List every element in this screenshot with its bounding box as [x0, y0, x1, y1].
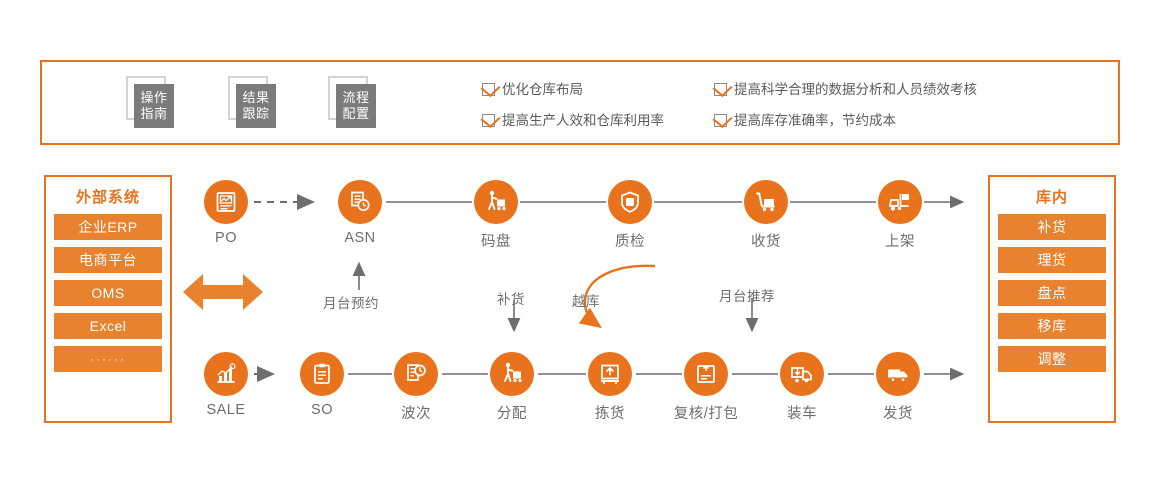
flow-node-label: 复核/打包 — [674, 402, 739, 423]
flow-node-pack[interactable]: 复核/打包 — [684, 352, 728, 396]
external-system-item-erp[interactable]: 企业ERP — [54, 214, 162, 240]
result-tracking-card[interactable]: 结果 跟踪 — [228, 76, 276, 128]
flow-node-ship[interactable]: 发货 — [876, 352, 920, 396]
checkbox-checked-icon[interactable] — [482, 114, 495, 127]
external-system-item-excel[interactable]: Excel — [54, 313, 162, 339]
shield-check-icon — [608, 180, 652, 224]
card-front-sheet: 流程 配置 — [336, 84, 376, 128]
external-system-item-more[interactable]: ······ — [54, 346, 162, 372]
flow-node-loading[interactable]: 装车 — [780, 352, 824, 396]
external-systems-panel: 外部系统 企业ERP 电商平台 OMS Excel ······ — [44, 175, 172, 423]
flow-node-sale[interactable]: SALE — [204, 352, 248, 396]
flow-node-label: SALE — [206, 402, 245, 418]
top-summary-panel: 操作 指南 结果 跟踪 流程 配置 优化仓库布局 提高科学合理的数据分析和人员绩… — [40, 60, 1120, 145]
checklist-label: 提高库存准确率，节约成本 — [734, 113, 896, 128]
in-warehouse-item-replenish[interactable]: 补货 — [998, 214, 1106, 240]
card-line-1: 流程 — [342, 90, 369, 106]
dock-recommendation-annotation: 月台推荐 — [719, 285, 775, 305]
flow-node-allocate[interactable]: 分配 — [490, 352, 534, 396]
flow-node-label: 波次 — [401, 402, 431, 423]
checkbox-checked-icon[interactable] — [714, 114, 727, 127]
pallet-up-icon — [588, 352, 632, 396]
flow-node-label: 质检 — [615, 230, 645, 251]
checklist-item[interactable]: 提高科学合理的数据分析和人员绩效考核 — [714, 82, 977, 97]
external-system-item-ecommerce[interactable]: 电商平台 — [54, 247, 162, 273]
card-front-sheet: 结果 跟踪 — [236, 84, 276, 128]
forklift-icon — [878, 180, 922, 224]
in-warehouse-item-transfer[interactable]: 移库 — [998, 313, 1106, 339]
in-warehouse-item-adjust[interactable]: 调整 — [998, 346, 1106, 372]
hand-truck-icon — [744, 180, 788, 224]
cross-dock-annotation: 越库 — [572, 290, 600, 310]
flow-node-label: 分配 — [497, 402, 527, 423]
card-line-2: 跟踪 — [242, 106, 269, 122]
bidirectional-exchange-arrow — [183, 274, 263, 310]
checklist-item[interactable]: 提高库存准确率，节约成本 — [714, 113, 896, 128]
checklist-label: 提高科学合理的数据分析和人员绩效考核 — [734, 82, 977, 97]
checklist-label: 优化仓库布局 — [502, 82, 583, 97]
flow-node-label: 上架 — [885, 230, 915, 251]
flow-node-label: 拣货 — [595, 402, 625, 423]
chart-document-icon — [204, 180, 248, 224]
external-systems-title: 外部系统 — [46, 177, 170, 214]
flow-node-label: 装车 — [787, 402, 817, 423]
report-clock-icon — [394, 352, 438, 396]
card-line-2: 指南 — [140, 106, 167, 122]
flow-node-palletize[interactable]: 码盘 — [474, 180, 518, 224]
checklist-item[interactable]: 优化仓库布局 — [482, 82, 583, 97]
flow-node-label: 发货 — [883, 402, 913, 423]
operation-guide-card[interactable]: 操作 指南 — [126, 76, 174, 128]
flow-node-putaway[interactable]: 上架 — [878, 180, 922, 224]
process-config-card[interactable]: 流程 配置 — [328, 76, 376, 128]
in-warehouse-item-stocktake[interactable]: 盘点 — [998, 280, 1106, 306]
card-line-1: 操作 — [140, 90, 167, 106]
flow-node-wave[interactable]: 波次 — [394, 352, 438, 396]
flow-node-label: 收货 — [751, 230, 781, 251]
replenishment-annotation: 补货 — [497, 288, 525, 308]
worker-cart-icon — [490, 352, 534, 396]
clipboard-icon — [300, 352, 344, 396]
card-line-2: 配置 — [342, 106, 369, 122]
card-front-sheet: 操作 指南 — [134, 84, 174, 128]
flow-node-pick[interactable]: 拣货 — [588, 352, 632, 396]
truck-load-icon — [780, 352, 824, 396]
package-box-icon — [684, 352, 728, 396]
checklist-label: 提高生产人效和仓库利用率 — [502, 113, 664, 128]
flow-node-label: SO — [311, 402, 333, 418]
flow-node-receive[interactable]: 收货 — [744, 180, 788, 224]
flow-node-label: 码盘 — [481, 230, 511, 251]
flow-node-asn[interactable]: ASN — [338, 180, 382, 224]
checklist-item[interactable]: 提高生产人效和仓库利用率 — [482, 113, 664, 128]
worker-cart-icon — [474, 180, 518, 224]
in-warehouse-item-tally[interactable]: 理货 — [998, 247, 1106, 273]
checkbox-checked-icon[interactable] — [714, 83, 727, 96]
diagram-canvas: 操作 指南 结果 跟踪 流程 配置 优化仓库布局 提高科学合理的数据分析和人员绩… — [0, 0, 1162, 492]
flow-node-po[interactable]: PO — [204, 180, 248, 224]
flow-node-label: PO — [215, 230, 237, 246]
in-warehouse-title: 库内 — [990, 177, 1114, 214]
flow-node-quality-check[interactable]: 质检 — [608, 180, 652, 224]
flow-node-so[interactable]: SO — [300, 352, 344, 396]
external-system-item-oms[interactable]: OMS — [54, 280, 162, 306]
document-clock-icon — [338, 180, 382, 224]
delivery-truck-icon — [876, 352, 920, 396]
flow-node-label: ASN — [344, 230, 375, 246]
bar-chart-growth-icon — [204, 352, 248, 396]
dock-appointment-annotation: 月台预约 — [323, 292, 379, 312]
in-warehouse-panel: 库内 补货 理货 盘点 移库 调整 — [988, 175, 1116, 423]
card-line-1: 结果 — [242, 90, 269, 106]
checkbox-checked-icon[interactable] — [482, 83, 495, 96]
